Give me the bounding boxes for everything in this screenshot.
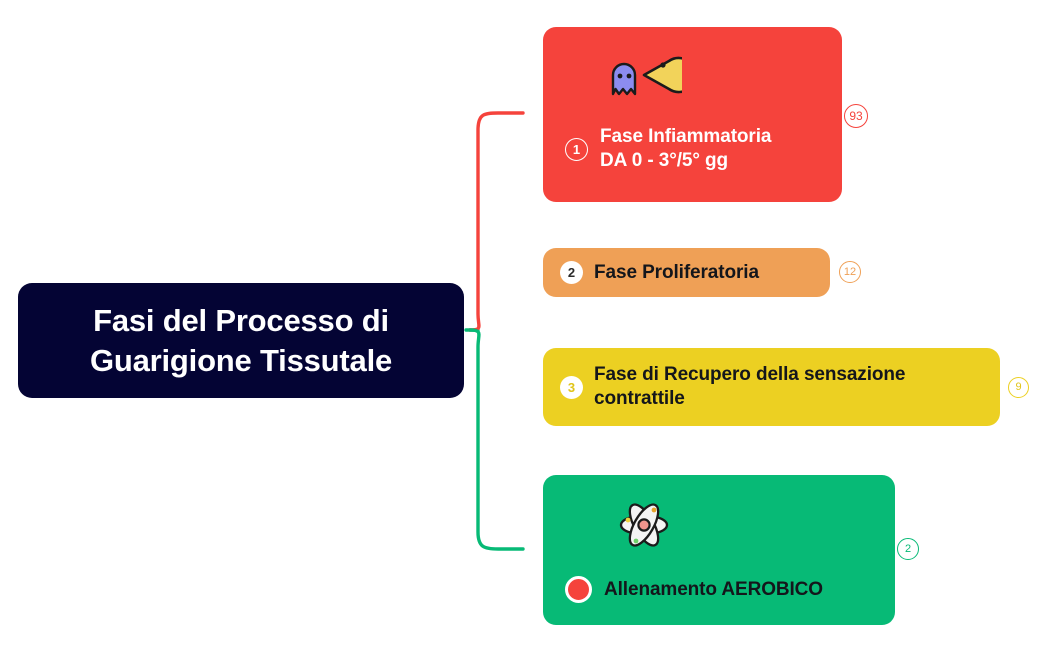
- root-node-title: Fasi del Processo di Guarigione Tissutal…: [90, 301, 392, 379]
- root-title-line-2: Guarigione Tissutale: [90, 343, 392, 378]
- root-node[interactable]: Fasi del Processo di Guarigione Tissutal…: [18, 283, 464, 398]
- branch-card-4-title: Allenamento AEROBICO: [604, 579, 823, 601]
- branch-card-3-title: Fase di Recupero della sensazione contra…: [594, 363, 905, 412]
- branch-index-badge-3: 3: [560, 376, 583, 399]
- branch-card-2[interactable]: 2 Fase Proliferatoria: [543, 248, 830, 297]
- branch-card-3-title-line-2: contrattile: [594, 388, 685, 409]
- connector-branch-4: [470, 330, 523, 549]
- branch-card-3[interactable]: 3 Fase di Recupero della sensazione cont…: [543, 348, 1000, 426]
- ghost-glyph: [613, 64, 635, 94]
- pacman-glyph: [644, 58, 682, 92]
- branch-count-badge-2[interactable]: 12: [839, 261, 861, 283]
- branch-card-1-label-row: 1 Fase Infiammatoria DA 0 - 3°/5° gg: [565, 125, 828, 174]
- branch-card-1-title-line-2: DA 0 - 3°/5° gg: [600, 150, 728, 171]
- pacman-ghost-icon: [606, 53, 682, 97]
- mindmap-canvas: Fasi del Processo di Guarigione Tissutal…: [0, 0, 1049, 650]
- branch-card-1-title-line-1: Fase Infiammatoria: [600, 126, 771, 147]
- red-dot-icon: [565, 576, 592, 603]
- branch-card-2-title: Fase Proliferatoria: [594, 262, 759, 284]
- branch-card-4[interactable]: Allenamento AEROBICO: [543, 475, 895, 625]
- branch-card-4-label-row: Allenamento AEROBICO: [565, 576, 823, 603]
- atom-icon: [616, 497, 672, 553]
- branch-card-1[interactable]: 1 Fase Infiammatoria DA 0 - 3°/5° gg: [543, 27, 842, 202]
- branch-card-1-title: Fase Infiammatoria DA 0 - 3°/5° gg: [600, 125, 771, 174]
- connector-branch-1: [470, 113, 523, 330]
- branch-count-badge-3[interactable]: 9: [1008, 377, 1029, 398]
- branch-index-badge-1: 1: [565, 138, 588, 161]
- branch-card-3-title-line-1: Fase di Recupero della sensazione: [594, 364, 905, 385]
- branch-index-badge-2: 2: [560, 261, 583, 284]
- root-title-line-1: Fasi del Processo di: [93, 303, 389, 338]
- branch-count-badge-4[interactable]: 2: [897, 538, 919, 560]
- branch-count-badge-1[interactable]: 93: [844, 104, 868, 128]
